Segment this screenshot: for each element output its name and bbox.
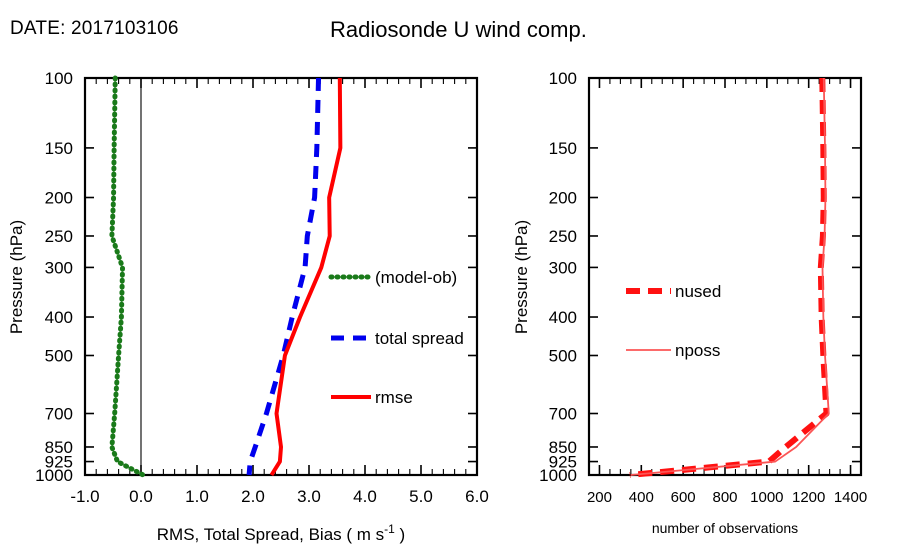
y-tick-label: 100: [549, 69, 577, 88]
y-tick-label: 400: [549, 308, 577, 327]
left-panel-legend: (model-ob)total spreadrmse: [331, 268, 464, 407]
x-tick-label: 3.0: [297, 487, 321, 506]
legend-label-nused: nused: [675, 282, 721, 301]
series-line-nused: [630, 78, 827, 475]
right-panel-series: [630, 78, 829, 475]
left-panel-y-axis-title: Pressure (hPa): [7, 220, 26, 334]
y-tick-label: 200: [45, 189, 73, 208]
legend-label-rmse: rmse: [375, 388, 413, 407]
legend-label-modelob: (model-ob): [375, 268, 457, 287]
x-tick-label: 5.0: [409, 487, 433, 506]
y-tick-label: 300: [45, 258, 73, 277]
x-tick-label: 0.0: [129, 487, 153, 506]
series-line-modelob: [112, 78, 143, 475]
left-panel-series: [112, 78, 340, 475]
y-tick-label: 500: [549, 346, 577, 365]
right-panel-x-tick-labels: 200400600800100012001400: [587, 489, 867, 506]
y-tick-label: 250: [45, 227, 73, 246]
radiosonde-figure: 1001502002503004005007008509251000 -1.00…: [0, 0, 900, 560]
x-tick-label: 1200: [792, 489, 825, 506]
y-tick-label: 400: [45, 308, 73, 327]
legend-label-totalspread: total spread: [375, 329, 464, 348]
right-panel-y-axis-title: Pressure (hPa): [512, 220, 531, 334]
y-tick-label: 150: [45, 139, 73, 158]
right-panel-y-tick-labels: 1001502002503004005007008509251000: [539, 69, 577, 485]
y-tick-label: 700: [549, 405, 577, 424]
y-tick-label: 1000: [35, 466, 73, 485]
series-line-nposs: [631, 78, 829, 475]
x-tick-label: 1400: [834, 489, 867, 506]
x-tick-label: 2.0: [241, 487, 265, 506]
y-tick-label: 200: [549, 189, 577, 208]
left-panel: 1001502002503004005007008509251000 -1.00…: [7, 69, 489, 544]
y-tick-label: 100: [45, 69, 73, 88]
y-tick-label: 700: [45, 405, 73, 424]
legend-label-nposs: nposs: [675, 341, 720, 360]
y-tick-label: 1000: [539, 466, 577, 485]
x-tick-label: 1.0: [185, 487, 209, 506]
y-tick-label: 250: [549, 227, 577, 246]
left-panel-y-tick-labels: 1001502002503004005007008509251000: [35, 69, 73, 485]
right-panel-x-axis-title: number of observations: [652, 520, 798, 536]
x-tick-label: 600: [671, 489, 696, 506]
left-panel-x-axis-title: RMS, Total Spread, Bias ( m s-1 ): [157, 522, 405, 544]
right-panel-legend: nusednposs: [626, 282, 721, 360]
series-line-totalspread: [249, 78, 318, 475]
x-tick-label: 1000: [750, 489, 783, 506]
left-panel-x-tick-labels: -1.00.01.02.03.04.05.06.0: [70, 487, 488, 506]
x-tick-label: 200: [587, 489, 612, 506]
y-tick-label: 500: [45, 346, 73, 365]
x-tick-label: 6.0: [465, 487, 489, 506]
x-tick-label: 800: [712, 489, 737, 506]
right-panel: 1001502002503004005007008509251000 20040…: [512, 69, 867, 536]
x-tick-label: 400: [629, 489, 654, 506]
x-tick-label: 4.0: [353, 487, 377, 506]
y-tick-label: 300: [549, 258, 577, 277]
x-tick-label: -1.0: [70, 487, 99, 506]
y-tick-label: 150: [549, 139, 577, 158]
